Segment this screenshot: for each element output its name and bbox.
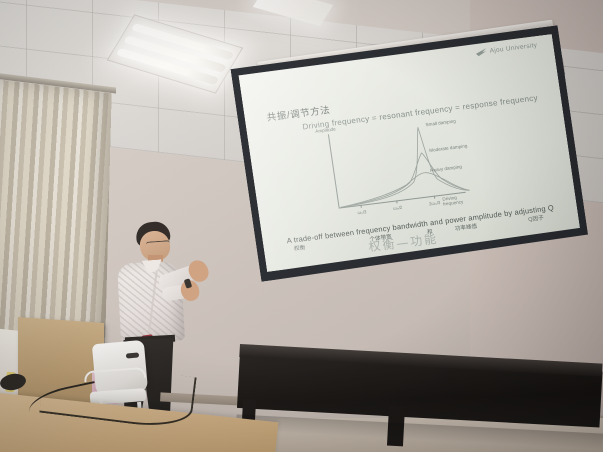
slide-note-cn-0: 权衡 bbox=[293, 243, 305, 252]
chart-x-ticklabel: ω₀/3 bbox=[357, 209, 367, 215]
slide-note-cn-4: Q因子 bbox=[528, 213, 545, 223]
ajou-logo-icon bbox=[475, 48, 487, 56]
chart-x-ticklabel: ω₀/2 bbox=[393, 205, 403, 211]
university-logo: Ajou University bbox=[475, 42, 537, 57]
lecture-room-photo: Ajou University 共振/调节方法 Driving frequenc… bbox=[0, 0, 603, 452]
chart-x-ticklabel: 2ω₀/3 bbox=[429, 200, 441, 206]
resonance-chart: Amplitude Driving frequency ω₀/3 ω₀/2 2ω… bbox=[314, 116, 475, 220]
projection-screen: Ajou University 共振/调节方法 Driving frequenc… bbox=[230, 25, 589, 282]
slide-note-cn-3: 功率峰值 bbox=[454, 222, 477, 233]
university-logo-text: Ajou University bbox=[489, 42, 538, 55]
